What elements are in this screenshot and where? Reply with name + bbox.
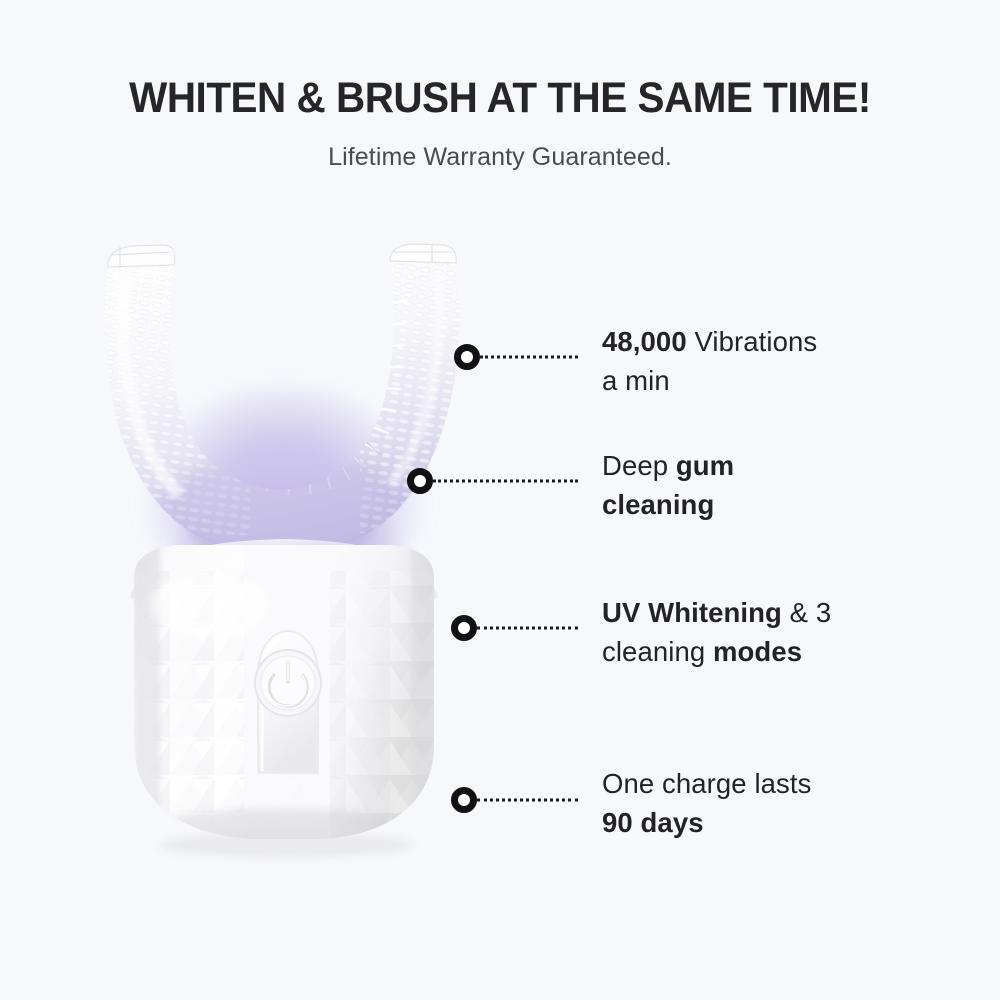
infographic-canvas: WHITEN & BRUSH AT THE SAME TIME! Lifetim… bbox=[0, 0, 1000, 1000]
callout-gum-line2: cleaning bbox=[602, 489, 714, 520]
leader-line-uv-whitening bbox=[477, 627, 578, 630]
callout-uv-line2-word: modes bbox=[713, 636, 802, 667]
leader-line-gum-cleaning bbox=[433, 480, 578, 483]
leader-line-vibrations bbox=[480, 356, 578, 359]
callout-battery-value: 90 days bbox=[602, 807, 704, 838]
callout-text-vibrations: 48,000 Vibrations a min bbox=[602, 322, 942, 400]
callout-uv-count: & 3 bbox=[782, 597, 831, 628]
callout-vibrations-value: 48,000 bbox=[602, 326, 687, 357]
callout-gum-word: gum bbox=[676, 450, 734, 481]
leader-line-battery-life bbox=[477, 799, 578, 802]
callout-marker-gum-cleaning[interactable] bbox=[407, 468, 433, 494]
page-title: WHITEN & BRUSH AT THE SAME TIME! bbox=[30, 74, 970, 123]
callout-text-uv-whitening: UV Whitening & 3 cleaning modes bbox=[602, 593, 942, 671]
callout-marker-vibrations[interactable] bbox=[454, 344, 480, 370]
callout-vibrations-unit: Vibrations bbox=[687, 326, 818, 357]
callout-gum-prefix: Deep bbox=[602, 450, 676, 481]
page-subtitle: Lifetime Warranty Guaranteed. bbox=[0, 143, 1000, 172]
callout-uv-term: UV Whitening bbox=[602, 597, 782, 628]
callout-text-battery-life: One charge lasts 90 days bbox=[602, 764, 942, 842]
callout-uv-line2-prefix: cleaning bbox=[602, 636, 713, 667]
callout-marker-uv-whitening[interactable] bbox=[451, 615, 477, 641]
base-unit bbox=[130, 539, 440, 861]
callout-vibrations-line2: a min bbox=[602, 365, 670, 396]
callout-text-gum-cleaning: Deep gum cleaning bbox=[602, 446, 942, 524]
power-button bbox=[255, 631, 321, 773]
callout-marker-battery-life[interactable] bbox=[451, 787, 477, 813]
callout-battery-line1: One charge lasts bbox=[602, 768, 812, 799]
